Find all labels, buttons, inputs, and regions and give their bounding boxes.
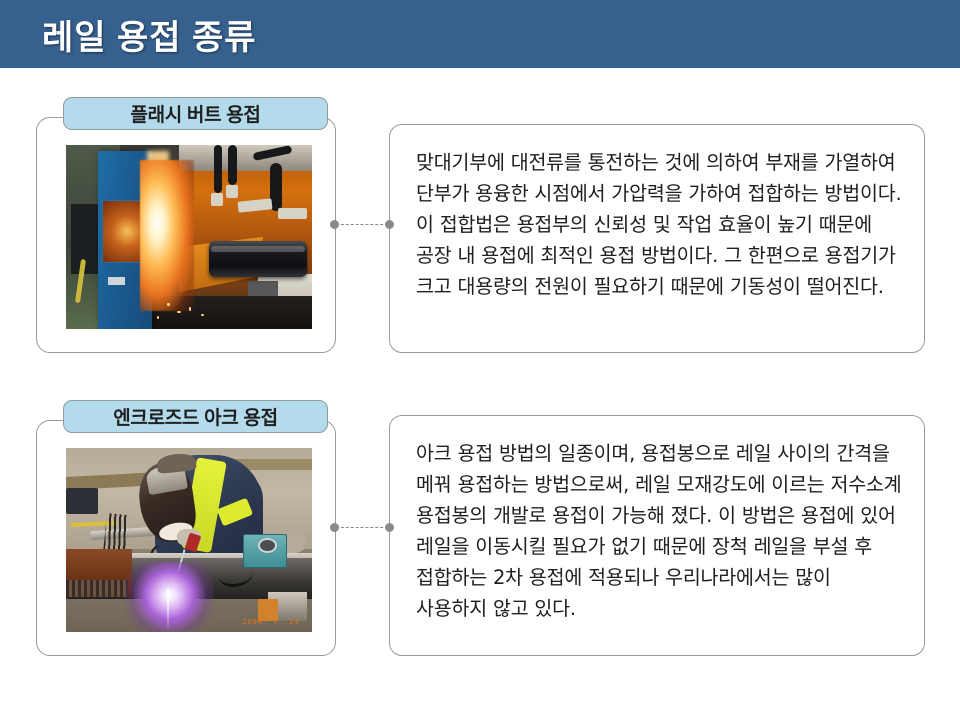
photo-frame-1 bbox=[36, 117, 336, 353]
page-title: 레일 용접 종류 bbox=[42, 10, 257, 59]
connector-1 bbox=[330, 220, 394, 229]
description-box-1: 맞대기부에 대전류를 통전하는 것에 의하여 부재를 가열하여 단부가 용융한 … bbox=[389, 124, 925, 353]
description-text-flash-butt: 맞대기부에 대전류를 통전하는 것에 의하여 부재를 가열하여 단부가 용융한 … bbox=[390, 125, 924, 302]
photo-date-stamp: 2008. 7. 24 bbox=[242, 618, 299, 626]
connector-2 bbox=[330, 523, 394, 532]
photo-enclosed-arc-welding: 2008. 7. 24 bbox=[66, 448, 312, 632]
description-box-2: 아크 용접 방법의 일종이며, 용접봉으로 레일 사이의 간격을 메꿔 용접하는… bbox=[389, 415, 925, 656]
description-text-enclosed-arc: 아크 용접 방법의 일종이며, 용접봉으로 레일 사이의 간격을 메꿔 용접하는… bbox=[390, 416, 924, 624]
connector-dashed-line bbox=[336, 224, 388, 225]
connector-dashed-line bbox=[336, 527, 388, 528]
section-label-text: 엔크로즈드 아크 용접 bbox=[113, 403, 278, 430]
page-header-bar: 레일 용접 종류 bbox=[0, 0, 960, 68]
section-label-text: 플래시 버트 용접 bbox=[130, 100, 260, 127]
section-label-enclosed-arc[interactable]: 엔크로즈드 아크 용접 bbox=[63, 400, 328, 433]
photo-frame-2: 2008. 7. 24 bbox=[36, 420, 336, 656]
connector-dot-right bbox=[385, 523, 394, 532]
section-label-flash-butt[interactable]: 플래시 버트 용접 bbox=[63, 97, 328, 130]
connector-dot-right bbox=[385, 220, 394, 229]
photo-flash-butt-welding bbox=[66, 145, 312, 329]
